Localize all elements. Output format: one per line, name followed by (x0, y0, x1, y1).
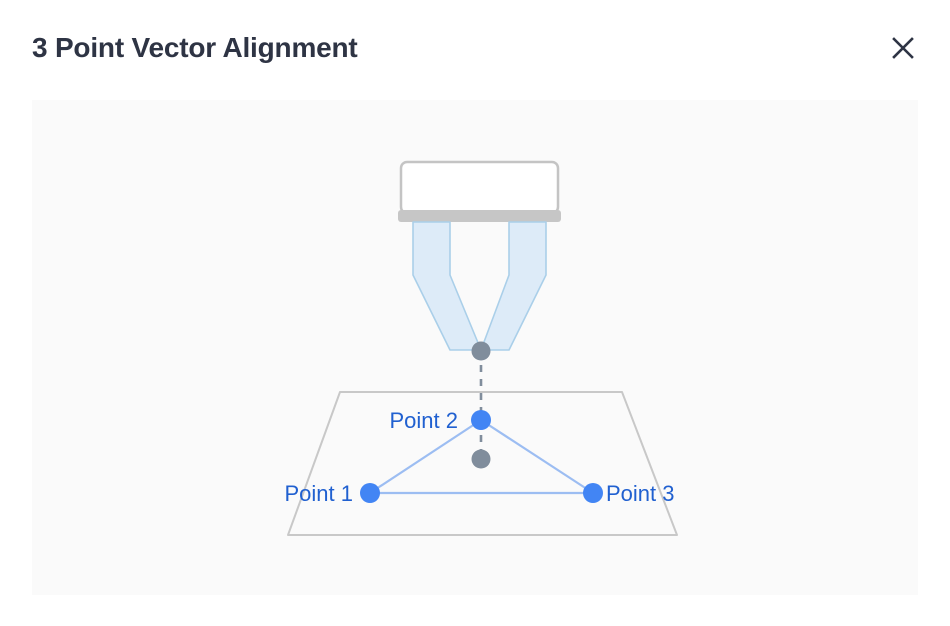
vector-alignment-dialog: 3 Point Vector Alignment (0, 0, 950, 626)
page-title: 3 Point Vector Alignment (32, 28, 358, 68)
alignment-diagram-svg: Point 1 Point 2 Point 3 (32, 100, 918, 595)
point-label-1: Point 1 (285, 481, 354, 506)
dialog-header: 3 Point Vector Alignment (0, 0, 950, 100)
point-marker-2[interactable] (471, 410, 491, 430)
gripper-body (401, 162, 558, 213)
connector-point2-point3 (481, 420, 593, 493)
tool-center-point (472, 342, 491, 361)
close-button[interactable] (883, 28, 923, 68)
close-icon (890, 35, 916, 61)
probe-reference-marker (472, 450, 491, 469)
gripper-finger-right (481, 222, 546, 350)
gripper-finger-left (413, 222, 481, 350)
diagram-panel: Point 1 Point 2 Point 3 (32, 100, 918, 595)
gripper-mount-bar (398, 210, 561, 222)
point-marker-1[interactable] (360, 483, 380, 503)
point-marker-3[interactable] (583, 483, 603, 503)
point-label-3: Point 3 (606, 481, 675, 506)
point-label-2: Point 2 (390, 408, 459, 433)
